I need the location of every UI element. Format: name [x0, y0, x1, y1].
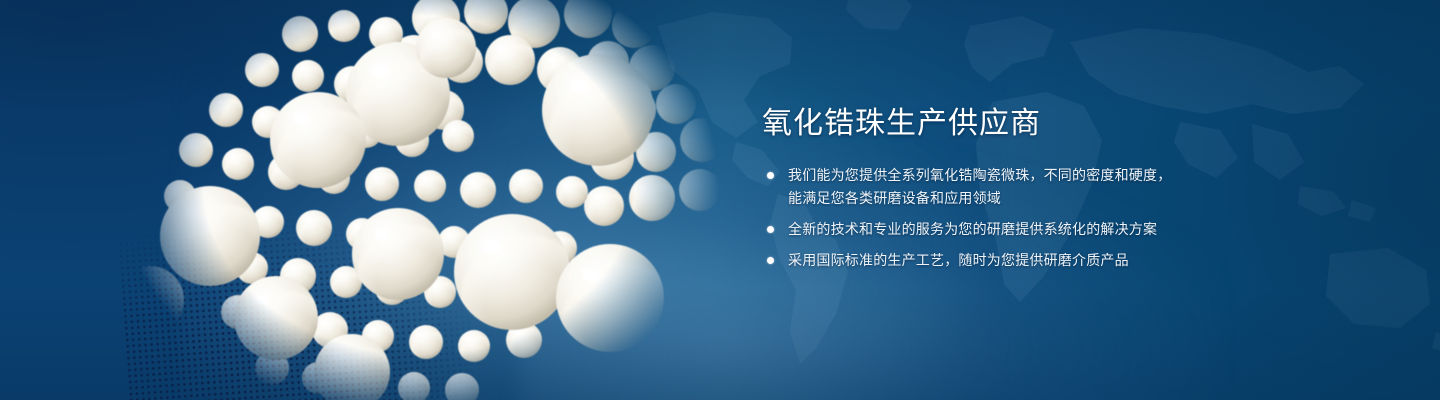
bullet-item: 我们能为您提供全系列氧化锆陶瓷微珠，不同的密度和硬度， 能满足您各类研磨设备和应…	[762, 164, 1402, 209]
banner-headline: 氧化锆珠生产供应商	[762, 104, 1402, 144]
bullet-dot-icon	[767, 226, 774, 233]
bullet-dot-icon	[767, 172, 774, 179]
bullet-text-line: 能满足您各类研磨设备和应用领域	[788, 187, 1402, 209]
banner-bullet-list: 我们能为您提供全系列氧化锆陶瓷微珠，不同的密度和硬度， 能满足您各类研磨设备和应…	[762, 164, 1402, 271]
bullet-text-line: 采用国际标准的生产工艺，随时为您提供研磨介质产品	[788, 249, 1402, 271]
bullet-item: 采用国际标准的生产工艺，随时为您提供研磨介质产品	[762, 249, 1402, 271]
bullet-item: 全新的技术和专业的服务为您的研磨提供系统化的解决方案	[762, 218, 1402, 240]
bullet-text-line: 我们能为您提供全系列氧化锆陶瓷微珠，不同的密度和硬度，	[788, 164, 1402, 186]
banner-copy: 氧化锆珠生产供应商 我们能为您提供全系列氧化锆陶瓷微珠，不同的密度和硬度， 能满…	[762, 104, 1402, 271]
bullet-dot-icon	[767, 257, 774, 264]
bullet-text-line: 全新的技术和专业的服务为您的研磨提供系统化的解决方案	[788, 218, 1402, 240]
promo-banner: 氧化锆珠生产供应商 我们能为您提供全系列氧化锆陶瓷微珠，不同的密度和硬度， 能满…	[0, 0, 1440, 400]
